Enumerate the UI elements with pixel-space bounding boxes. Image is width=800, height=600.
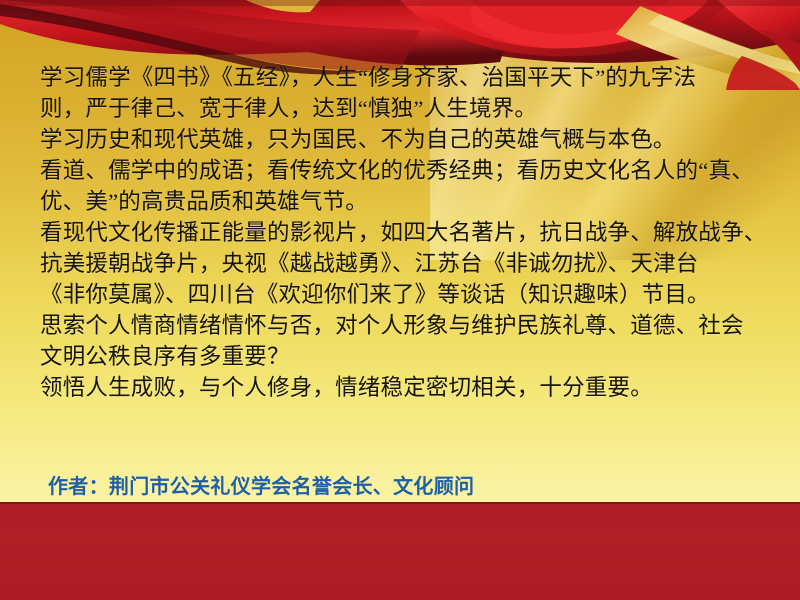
- slide-body-text: 学习儒学《四书》《五经》，人生“修身齐家、治国平天下”的九字法 则，严于律己、宽…: [40, 62, 770, 403]
- body-line: 《非你莫属》、四川台《欢迎你们来了》等谈话（知识趣味）节目。: [40, 279, 770, 310]
- body-line: 文明公秩良序有多重要？: [40, 341, 770, 372]
- body-line: 学习历史和现代英雄，只为国民、不为自己的英雄气概与本色。: [40, 124, 770, 155]
- body-line: 则，严于律己、宽于律人，达到“慎独”人生境界。: [40, 93, 770, 124]
- body-line: 抗美援朝战争片，央视《越战越勇》、江苏台《非诚勿扰》、天津台: [40, 248, 770, 279]
- body-line: 领悟人生成败，与个人修身，情绪稳定密切相关，十分重要。: [40, 372, 770, 403]
- presentation-slide: 学习儒学《四书》《五经》，人生“修身齐家、治国平天下”的九字法 则，严于律己、宽…: [0, 0, 800, 600]
- author-credit: 作者：荆门市公关礼仪学会名誉会长、文化顾问: [48, 470, 474, 499]
- body-line: 看道、儒学中的成语；看传统文化的优秀经典；看历史文化名人的“真、: [40, 155, 770, 186]
- body-line: 看现代文化传播正能量的影视片，如四大名著片，抗日战争、解放战争、: [40, 217, 770, 248]
- footer-red-band: [0, 502, 800, 600]
- body-line: 学习儒学《四书》《五经》，人生“修身齐家、治国平天下”的九字法: [40, 62, 770, 93]
- body-line: 思索个人情商情绪情怀与否，对个人形象与维护民族礼尊、道德、社会: [40, 310, 770, 341]
- body-line: 优、美”的高贵品质和英雄气节。: [40, 186, 770, 217]
